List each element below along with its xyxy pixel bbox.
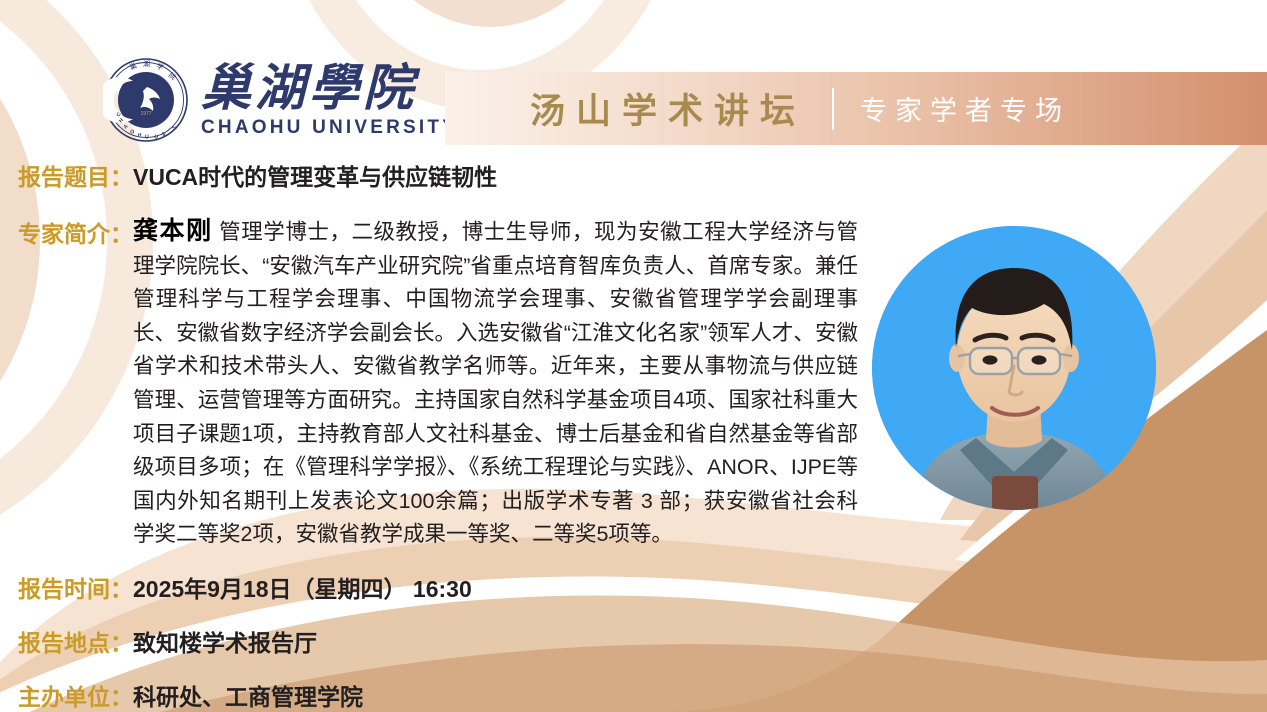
speaker-bio-label: 专家简介： bbox=[18, 215, 133, 249]
report-host-label: 主办单位： bbox=[18, 678, 133, 712]
speaker-name: 龚本刚 bbox=[133, 217, 213, 245]
logo-name-en: CHAOHU UNIVERSITY bbox=[201, 118, 458, 137]
report-place-label: 报告地点： bbox=[18, 624, 133, 658]
poster-root: 1977 巢 湖 学 院 C H A O H U U bbox=[0, 0, 1267, 712]
svg-text:1977: 1977 bbox=[140, 111, 151, 117]
speaker-portrait bbox=[872, 226, 1156, 510]
banner-divider-icon bbox=[832, 88, 834, 130]
banner-title: 汤山学术讲坛 bbox=[530, 83, 806, 134]
svg-text:O: O bbox=[130, 129, 136, 136]
report-time-value: 2025年9月18日（星期四） 16:30 bbox=[133, 570, 472, 604]
speaker-bio-row: 专家简介： 龚本刚 管理学博士，二级教授，博士生导师，现为安徽工程大学经济与管理… bbox=[18, 215, 898, 552]
svg-text:U: U bbox=[145, 135, 149, 141]
svg-text:A: A bbox=[123, 123, 130, 130]
report-host-row: 主办单位： 科研处、工商管理学院 bbox=[18, 678, 363, 712]
speaker-bio-text: 龚本刚 管理学博士，二级教授，博士生导师，现为安徽工程大学经济与管理学院院长、“… bbox=[133, 215, 858, 552]
chaohu-university-seal-icon: 1977 巢 湖 学 院 C H A O H U U bbox=[103, 57, 189, 143]
logo-wordmark: 巢湖學院 CHAOHU UNIVERSITY bbox=[201, 63, 458, 137]
university-logo: 1977 巢 湖 学 院 C H A O H U U bbox=[103, 57, 458, 143]
svg-text:湖: 湖 bbox=[143, 59, 150, 68]
report-time-label: 报告时间： bbox=[18, 570, 133, 604]
poster-header: 1977 巢 湖 学 院 C H A O H U U bbox=[0, 0, 1267, 150]
logo-name-cn: 巢湖學院 bbox=[201, 63, 458, 113]
report-place-value: 致知楼学术报告厅 bbox=[133, 624, 317, 658]
report-place-row: 报告地点： 致知楼学术报告厅 bbox=[18, 624, 317, 658]
report-title-value: VUCA时代的管理变革与供应链韧性 bbox=[133, 158, 497, 192]
speaker-bio-paragraph: 管理学博士，二级教授，博士生导师，现为安徽工程大学经济与管理学院院长、“安徽汽车… bbox=[133, 220, 858, 546]
lecture-banner: 汤山学术讲坛 专家学者专场 bbox=[445, 72, 1267, 145]
report-title-label: 报告题目： bbox=[18, 158, 133, 192]
banner-subtitle: 专家学者专场 bbox=[860, 89, 1070, 128]
report-time-row: 报告时间： 2025年9月18日（星期四） 16:30 bbox=[18, 570, 472, 604]
svg-text:H: H bbox=[137, 132, 142, 139]
report-host-value: 科研处、工商管理学院 bbox=[133, 678, 363, 712]
report-title-row: 报告题目： VUCA时代的管理变革与供应链韧性 bbox=[18, 158, 497, 192]
